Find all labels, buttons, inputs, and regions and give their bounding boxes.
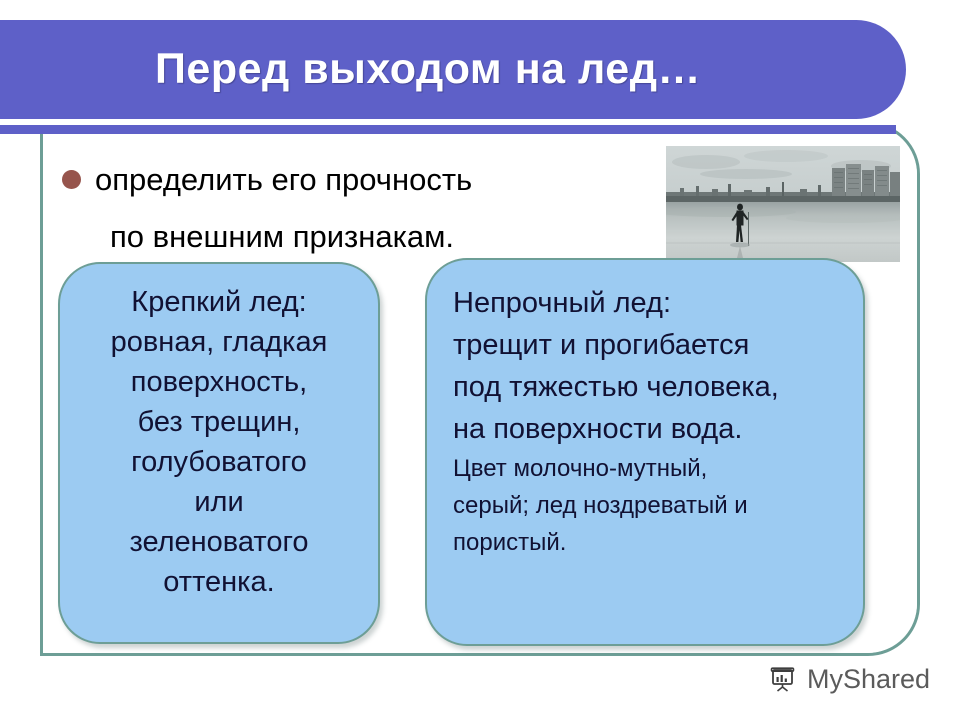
ice-photo-graphic	[666, 146, 900, 262]
title-banner: Перед выходом на лед…	[0, 20, 906, 119]
bullet-row: определить его прочность	[62, 158, 662, 202]
weak-ice-small-line-1: серый; лед ноздреватый и	[453, 487, 843, 524]
strong-ice-line-7: оттенка.	[74, 562, 364, 602]
weak-ice-line-2: под тяжестью человека,	[453, 366, 843, 408]
strong-ice-line-6: зеленоватого	[74, 522, 364, 562]
strong-ice-line-1: ровная, гладкая	[74, 322, 364, 362]
strong-ice-line-0: Крепкий лед:	[74, 282, 364, 322]
presentation-board-icon	[768, 664, 798, 694]
info-box-strong-ice: Крепкий лед: ровная, гладкая поверхность…	[58, 262, 380, 644]
title-underline-white-rule	[0, 119, 896, 125]
strong-ice-line-4: голубоватого	[74, 442, 364, 482]
myshared-watermark-text: MyShared	[807, 664, 930, 694]
bullet-text-line-1: определить его прочность	[95, 158, 472, 202]
weak-ice-line-3: на поверхности вода.	[453, 408, 843, 450]
bullet-dot-icon	[62, 170, 81, 189]
strong-ice-line-2: поверхность,	[74, 362, 364, 402]
weak-ice-small-line-0: Цвет молочно-мутный,	[453, 450, 843, 487]
page-title: Перед выходом на лед…	[0, 20, 868, 119]
weak-ice-small-line-2: пористый.	[453, 524, 843, 561]
weak-ice-line-0: Непрочный лед:	[453, 282, 843, 324]
myshared-watermark[interactable]: MyShared	[768, 664, 930, 694]
strong-ice-line-5: или	[74, 482, 364, 522]
weak-ice-line-1: трещит и прогибается	[453, 324, 843, 366]
strong-ice-line-3: без трещин,	[74, 402, 364, 442]
info-box-weak-ice: Непрочный лед: трещит и прогибается под …	[425, 258, 865, 646]
ice-photo	[666, 146, 900, 262]
bullet-block: определить его прочность по внешним приз…	[62, 158, 662, 259]
bullet-text-line-2: по внешним признакам.	[110, 215, 662, 259]
slide-canvas: Перед выходом на лед… определить его про…	[0, 0, 960, 720]
